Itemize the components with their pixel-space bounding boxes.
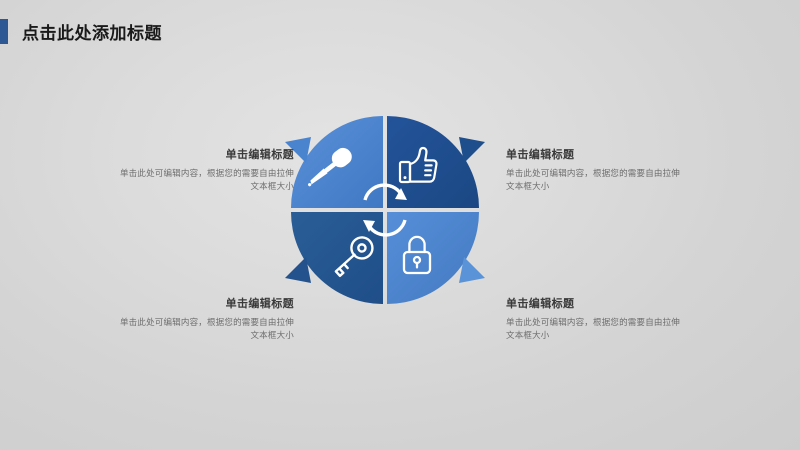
callout-body: 单击此处可编辑内容，根据您的需要自由拉伸文本框大小 [506, 316, 682, 342]
callout-title: 单击编辑标题 [118, 148, 294, 162]
callout-top-left: 单击编辑标题 单击此处可编辑内容，根据您的需要自由拉伸文本框大小 [118, 148, 294, 194]
callout-body: 单击此处可编辑内容，根据您的需要自由拉伸文本框大小 [506, 167, 682, 193]
page-title-text: 点击此处添加标题 [22, 19, 162, 44]
callout-top-right: 单击编辑标题 单击此处可编辑内容，根据您的需要自由拉伸文本框大小 [506, 148, 682, 194]
callout-bottom-left: 单击编辑标题 单击此处可编辑内容，根据您的需要自由拉伸文本框大小 [118, 297, 294, 343]
callout-title: 单击编辑标题 [506, 297, 682, 311]
callout-body: 单击此处可编辑内容，根据您的需要自由拉伸文本框大小 [118, 167, 294, 193]
slide-canvas: 点击此处添加标题 [0, 0, 800, 450]
quadrant-circle-diagram [289, 114, 481, 306]
title-accent-bar [0, 19, 8, 44]
quadrant-wedges [291, 116, 479, 304]
callout-bottom-right: 单击编辑标题 单击此处可编辑内容，根据您的需要自由拉伸文本框大小 [506, 297, 682, 343]
callout-title: 单击编辑标题 [118, 297, 294, 311]
callout-title: 单击编辑标题 [506, 148, 682, 162]
callout-body: 单击此处可编辑内容，根据您的需要自由拉伸文本框大小 [118, 316, 294, 342]
page-title: 点击此处添加标题 [0, 18, 162, 44]
